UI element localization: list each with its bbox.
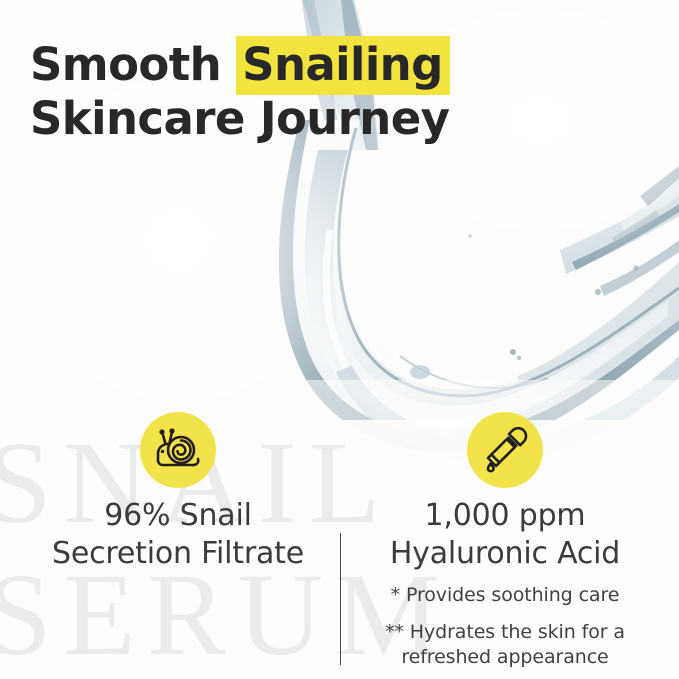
snail-icon — [153, 428, 203, 472]
feature-hyaluronic-acid: 1,000 ppm Hyaluronic Acid * Provides soo… — [350, 412, 660, 670]
snail-badge — [140, 412, 216, 488]
headline-line-2: Skincare Journey — [30, 92, 650, 146]
product-infographic-banner: SNAIL SERUM Smooth Snailing Skincare Jou… — [0, 0, 679, 679]
column-divider — [340, 533, 341, 665]
feature-title: 1,000 ppm Hyaluronic Acid — [350, 497, 660, 573]
feature-title-line-1: 1,000 ppm — [350, 497, 660, 535]
headline-line-1: Smooth Snailing — [30, 38, 650, 92]
dropper-badge — [467, 412, 543, 488]
feature-title-line-1: 96% Snail — [28, 497, 328, 535]
page-title: Smooth Snailing Skincare Journey — [30, 38, 650, 146]
footnote-double-asterisk-line-2: refreshed appearance — [350, 645, 660, 670]
feature-title-line-2: Secretion Filtrate — [28, 535, 328, 573]
feature-title-line-2: Hyaluronic Acid — [350, 535, 660, 573]
footnote-double-asterisk-line-1: ** Hydrates the skin for a — [350, 620, 660, 645]
feature-snail-secretion: 96% Snail Secretion Filtrate — [28, 412, 328, 573]
footnote-list: * Provides soothing care ** Hydrates the… — [350, 583, 660, 670]
footnote-single-asterisk: * Provides soothing care — [350, 583, 660, 608]
feature-title: 96% Snail Secretion Filtrate — [28, 497, 328, 573]
dropper-icon — [482, 427, 528, 473]
headline-highlight-snailing: Snailing — [236, 36, 450, 95]
headline-text-plain: Smooth — [30, 38, 236, 91]
